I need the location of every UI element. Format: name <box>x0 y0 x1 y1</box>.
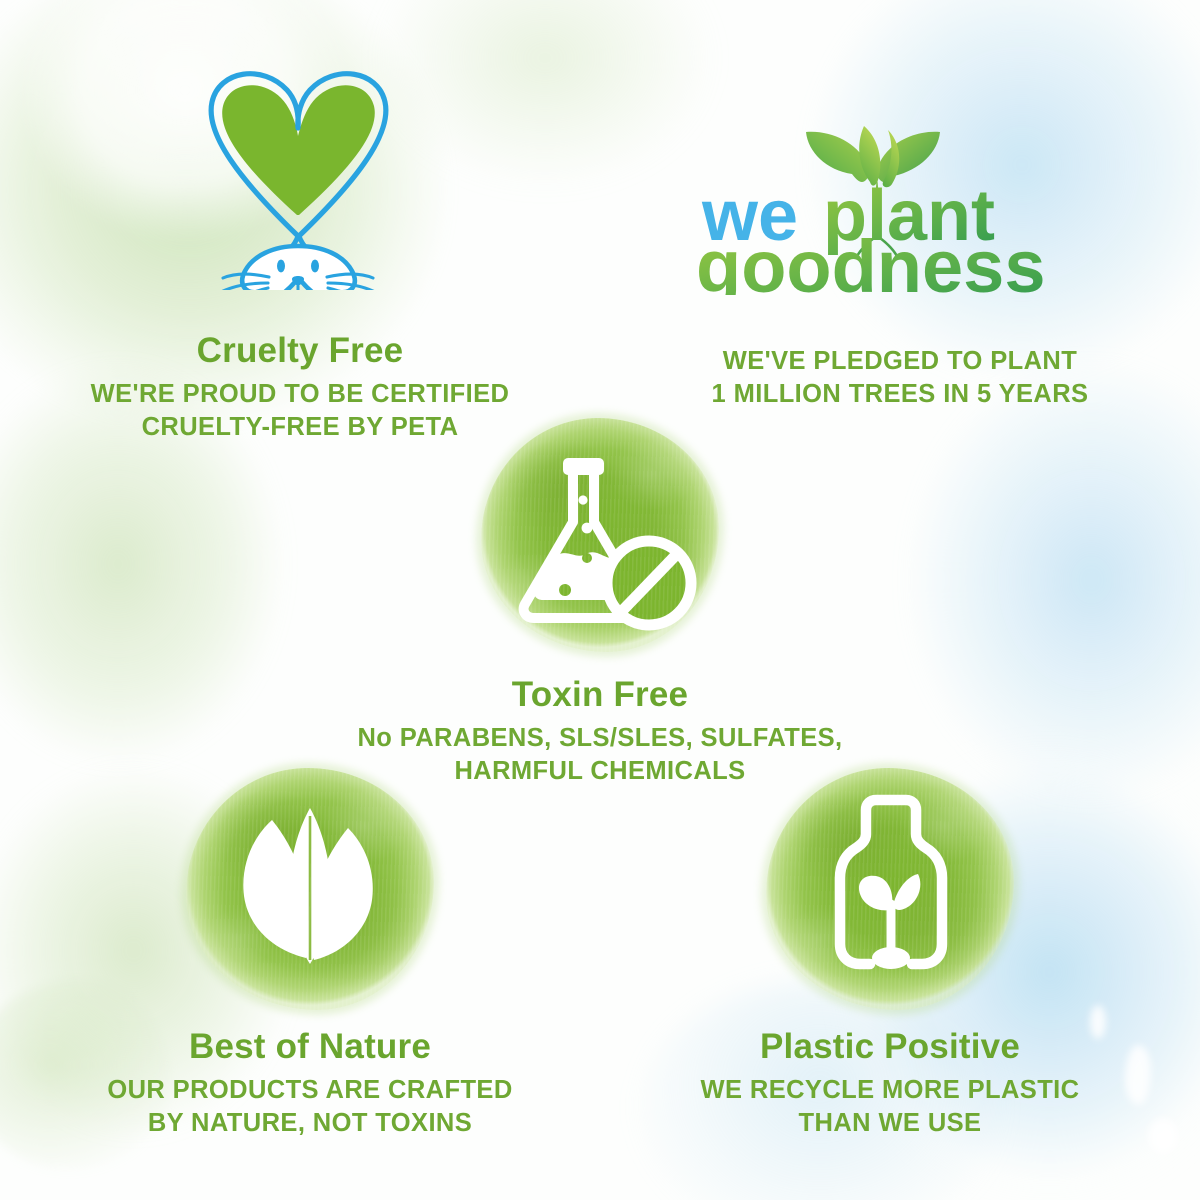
flask-bubble <box>582 523 593 534</box>
badge-we-plant-goodness: we plant goodness WE'VE PLEDGED TO PLANT… <box>600 110 1200 411</box>
flask-bubble <box>559 584 571 596</box>
badge-best-of-nature: Best of Nature OUR PRODUCTS ARE CRAFTED … <box>10 768 610 1140</box>
infographic-canvas: Cruelty Free WE'RE PROUD TO BE CERTIFIED… <box>0 0 1200 1200</box>
flask-cap <box>563 458 604 475</box>
watercolor-circle <box>481 418 719 652</box>
peta-cruelty-free-bunny-logo <box>0 40 600 290</box>
badge-title: Toxin Free <box>300 676 900 715</box>
soil-mound <box>872 947 910 969</box>
sprout-leaf-right <box>894 874 920 910</box>
badge-description: WE'VE PLEDGED TO PLANT 1 MILLION TREES I… <box>600 345 1200 411</box>
flask-bubble <box>578 495 587 504</box>
bunny-eye-right <box>311 260 319 273</box>
badge-description: WE RECYCLE MORE PLASTIC THAN WE USE <box>590 1074 1190 1140</box>
bunny-eye-left <box>277 260 285 273</box>
badge-cruelty-free: Cruelty Free WE'RE PROUD TO BE CERTIFIED… <box>0 40 600 444</box>
badge-title: Plastic Positive <box>590 1028 1190 1067</box>
flask-bubble <box>582 553 592 563</box>
bottle-with-sprout-icon <box>766 768 1014 1010</box>
badge-plastic-positive: Plastic Positive WE RECYCLE MORE PLASTIC… <box>590 768 1190 1140</box>
three-leaves-icon <box>186 768 434 1010</box>
watercolor-circle <box>766 768 1014 1010</box>
badge-title: Best of Nature <box>10 1028 610 1067</box>
badge-title: Cruelty Free <box>0 332 600 371</box>
plastic-positive-icon-slot <box>590 768 1190 1010</box>
badge-description: OUR PRODUCTS ARE CRAFTED BY NATURE, NOT … <box>10 1074 610 1140</box>
no-chemicals-flask-icon <box>481 418 719 652</box>
we-plant-goodness-sprout-logo: we plant goodness <box>600 110 1200 295</box>
best-of-nature-icon-slot <box>10 768 610 1010</box>
logo-word-goodness: goodness <box>696 225 1045 295</box>
toxin-free-icon-slot <box>300 418 900 656</box>
watercolor-circle <box>186 768 434 1010</box>
badge-toxin-free: Toxin Free No PARABENS, SLS/SLES, SULFAT… <box>300 418 900 788</box>
sprout-leaf-left <box>859 876 892 911</box>
